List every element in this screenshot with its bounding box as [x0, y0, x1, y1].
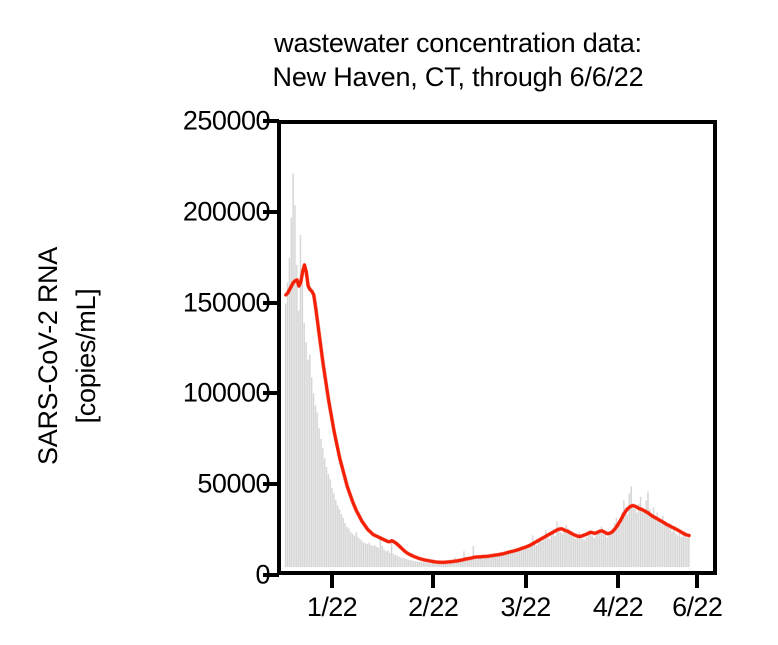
x-axis-tick-label: 3/22: [501, 592, 551, 622]
plot-area: [277, 120, 717, 575]
y-axis-tick-label: 50000: [197, 471, 270, 498]
x-axis-tick-label: 2/22: [408, 592, 458, 622]
x-axis-tick-label: 6/22: [672, 592, 722, 622]
chart-figure: wastewater concentration data: New Haven…: [0, 0, 778, 645]
y-axis-tick-label: 150000: [183, 289, 270, 316]
y-axis-tick-label: 100000: [183, 380, 270, 407]
x-axis-tick-label: 4/22: [593, 592, 643, 622]
y-axis-tick-label: 250000: [183, 108, 270, 135]
y-axis-tick-label: 200000: [183, 198, 270, 225]
x-axis-tick-label: 1/22: [307, 592, 357, 622]
chart-plot-canvas: [281, 124, 713, 571]
y-axis-tick-labels: 250000200000150000100000500000: [60, 0, 270, 645]
